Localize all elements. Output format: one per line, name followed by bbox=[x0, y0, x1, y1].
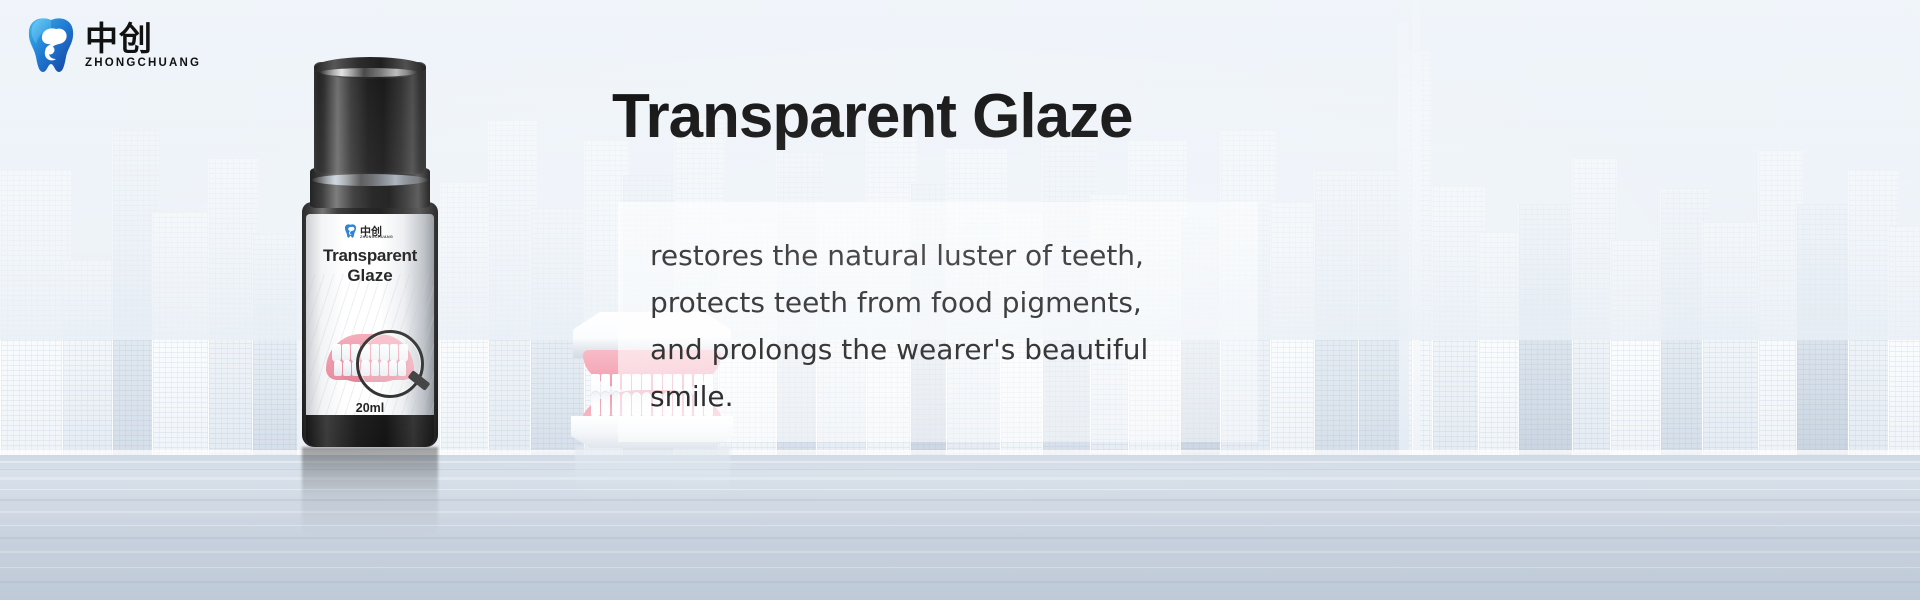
label-logo-romanized: ZHONGCHUANG bbox=[360, 235, 393, 239]
page-title: Transparent Glaze bbox=[612, 86, 1332, 148]
label-logo: 中创 ZHONGCHUANG bbox=[344, 222, 402, 240]
label-volume: 20ml bbox=[306, 401, 434, 415]
denture-reflection bbox=[575, 446, 730, 501]
tooth-logo-icon bbox=[26, 17, 76, 73]
label-product-name-line2: Glaze bbox=[306, 266, 434, 286]
bottle-reflection bbox=[302, 447, 438, 537]
brand-logo[interactable]: 中创 ZHONGCHUANG bbox=[26, 14, 226, 76]
brand-chinese-name: 中创 bbox=[85, 22, 201, 55]
description-line-1: restores the natural luster of teeth, bbox=[650, 232, 1250, 279]
promo-banner: 中创 ZHONGCHUANG 中创 ZHONGCHUANG Transparen… bbox=[0, 0, 1920, 600]
label-tooth-icon bbox=[344, 224, 357, 238]
description-line-4: smile. bbox=[650, 373, 1250, 420]
label-product-name-line1: Transparent bbox=[306, 246, 434, 266]
magnifier-over-teeth-icon bbox=[316, 314, 424, 392]
description-line-3: and prolongs the wearer's beautiful bbox=[650, 326, 1250, 373]
brand-romanized-name: ZHONGCHUANG bbox=[85, 58, 201, 70]
bottle-label: 中创 ZHONGCHUANG Transparent Glaze 20ml bbox=[306, 214, 434, 429]
description-line-2: protects teeth from food pigments, bbox=[650, 279, 1250, 326]
description-text: restores the natural luster of teeth, pr… bbox=[650, 232, 1250, 420]
reflective-floor bbox=[0, 455, 1920, 600]
product-bottle: 中创 ZHONGCHUANG Transparent Glaze 20ml bbox=[300, 62, 452, 447]
